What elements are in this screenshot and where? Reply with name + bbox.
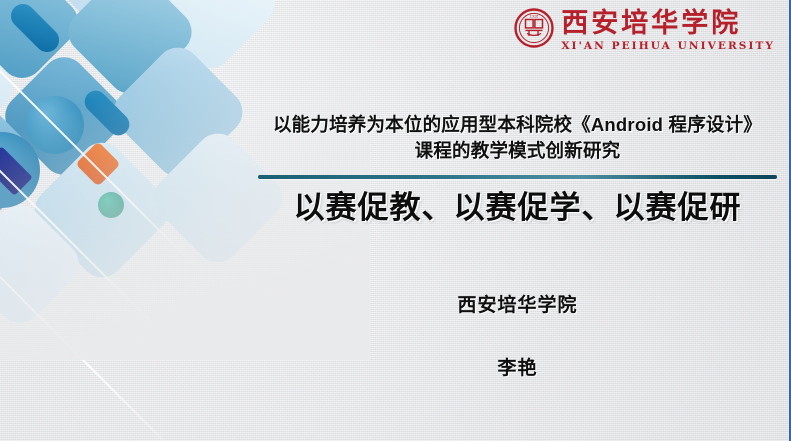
svg-text:1928: 1928 [530,15,538,19]
university-logo: 1928 西安培华学院 XI'AN PEIHUA UNIVERSITY [514,8,775,53]
logo-name-en: XI'AN PEIHUA UNIVERSITY [561,41,775,52]
logo-name-cn: 西安培华学院 [561,10,775,37]
affiliation: 西安培华学院 [258,290,777,317]
logo-wordmark: 西安培华学院 XI'AN PEIHUA UNIVERSITY [561,10,775,52]
teal-circle-accent [98,192,124,218]
slide-content: 以能力培养为本位的应用型本科院校《Android 程序设计》 课程的教学模式创新… [258,112,777,380]
university-seal-icon: 1928 [514,8,554,53]
title-divider [258,175,777,179]
presentation-slide: 1928 西安培华学院 XI'AN PEIHUA UNIVERSITY 以能力培… [0,0,791,441]
paper-title: 以能力培养为本位的应用型本科院校《Android 程序设计》 课程的教学模式创新… [258,112,777,163]
headline: 以赛促教、以赛促学、以赛促研 [258,189,777,228]
author-name: 李艳 [258,353,777,380]
